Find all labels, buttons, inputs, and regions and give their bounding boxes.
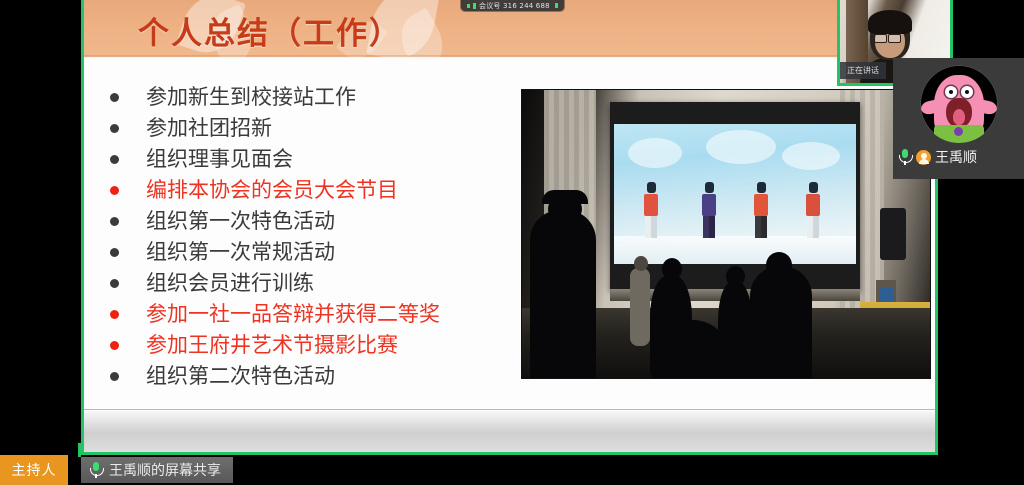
bullet-text: 组织第二次特色活动 (146, 366, 335, 387)
zoom-meeting-window: 个人总结（工作） 参加新生到校接站工作参加社团招新组织理事见面会编排本协会的会员… (0, 0, 1024, 485)
slide-bottom-band (84, 409, 935, 452)
share-border-stub (78, 443, 81, 457)
avatar-eye (961, 86, 973, 98)
signal-bars-icon (555, 3, 558, 8)
meeting-id-pill[interactable]: 会议号 316 244 688 (461, 0, 564, 11)
microphone-icon[interactable] (89, 462, 103, 478)
bullet-text: 参加社团招新 (146, 118, 272, 139)
bullet-text: 组织第一次特色活动 (146, 211, 335, 232)
bottom-bar: 主持人 王禹顺的屏幕共享 (0, 455, 1024, 485)
bullet-text: 组织第一次常规活动 (146, 242, 335, 263)
photo-projection-screen (614, 124, 856, 264)
bullet-item: 组织第一次常规活动 (104, 237, 524, 268)
microphone-icon[interactable] (898, 149, 912, 165)
bullet-text: 参加新生到校接站工作 (146, 87, 356, 108)
self-participant-name: 王禹顺 (935, 147, 977, 167)
meeting-id-label: 会议号 316 244 688 (479, 1, 550, 11)
slide-title: 个人总结（工作） (138, 8, 402, 53)
screen-performer (754, 182, 768, 238)
bullet-dot-icon (110, 155, 119, 164)
cloud-shape (628, 138, 682, 168)
bullet-item: 参加王府井艺术节摄影比赛 (104, 330, 524, 361)
screen-performer (806, 182, 820, 238)
photo-distant-person (630, 268, 650, 346)
avatar-eye (945, 86, 957, 98)
bullet-dot-icon (110, 341, 119, 350)
screen-performer (644, 182, 658, 238)
person-hair (868, 10, 912, 34)
photo-silhouette-head (726, 266, 745, 287)
bullet-item: 参加社团招新 (104, 113, 524, 144)
host-person-icon (916, 150, 931, 165)
bullet-text: 参加一社一品答辩并获得二等奖 (146, 304, 440, 325)
photo-screen-floor (614, 236, 856, 264)
banner-shadow (84, 55, 935, 58)
photo-silhouette-head (766, 252, 792, 278)
photo-cap (542, 190, 588, 204)
bullet-dot-icon (110, 93, 119, 102)
cloud-shape (706, 130, 776, 164)
photo-silhouette (718, 282, 752, 379)
photo-silhouette (750, 266, 812, 379)
bullet-item: 参加一社一品答辩并获得二等奖 (104, 299, 524, 330)
glasses-icon (874, 34, 887, 43)
signal-bars-icon (467, 4, 470, 8)
bullet-item: 组织理事见面会 (104, 144, 524, 175)
shared-screen-region[interactable]: 个人总结（工作） 参加新生到校接站工作参加社团招新组织理事见面会编排本协会的会员… (81, 0, 938, 455)
screen-share-chip[interactable]: 王禹顺的屏幕共享 (81, 457, 233, 483)
host-role-badge: 主持人 (0, 455, 68, 485)
avatar-tongue (953, 109, 965, 125)
signal-bars-icon (473, 3, 476, 9)
video-tile-self[interactable]: 王禹顺 (893, 58, 1024, 179)
patrick-star-avatar (920, 65, 998, 143)
bullet-text: 组织会员进行训练 (146, 273, 314, 294)
bullet-text: 编排本协会的会员大会节目 (146, 180, 398, 201)
bullet-dot-icon (110, 248, 119, 257)
bullet-dot-icon (110, 186, 119, 195)
self-tile-meta: 王禹顺 (898, 147, 977, 167)
bullet-dot-icon (110, 279, 119, 288)
bullet-item: 编排本协会的会员大会节目 (104, 175, 524, 206)
photo-distant-head (634, 256, 648, 271)
glasses-icon (888, 34, 901, 43)
bullet-item: 组织第一次特色活动 (104, 206, 524, 237)
cloud-shape (782, 142, 840, 170)
avatar-shorts (934, 125, 984, 143)
photo-silhouette-head (662, 258, 682, 280)
bullet-list: 参加新生到校接站工作参加社团招新组织理事见面会编排本协会的会员大会节目组织第一次… (104, 82, 524, 392)
screen-performer (702, 182, 716, 238)
screen-share-label: 王禹顺的屏幕共享 (109, 460, 221, 480)
bullet-dot-icon (110, 124, 119, 133)
bullet-dot-icon (110, 217, 119, 226)
photo-loudspeaker (880, 208, 906, 260)
presentation-slide: 个人总结（工作） 参加新生到校接站工作参加社团招新组织理事见面会编排本协会的会员… (84, 0, 935, 452)
photo-silhouette (530, 210, 596, 379)
speaking-status-label: 正在讲话 (840, 62, 886, 79)
bullet-dot-icon (110, 372, 119, 381)
bullet-item: 参加新生到校接站工作 (104, 82, 524, 113)
bullet-text: 参加王府井艺术节摄影比赛 (146, 335, 398, 356)
bullet-item: 组织会员进行训练 (104, 268, 524, 299)
bullet-text: 组织理事见面会 (146, 149, 293, 170)
bullet-item: 组织第二次特色活动 (104, 361, 524, 392)
slide-photo (521, 89, 931, 379)
bullet-dot-icon (110, 310, 119, 319)
